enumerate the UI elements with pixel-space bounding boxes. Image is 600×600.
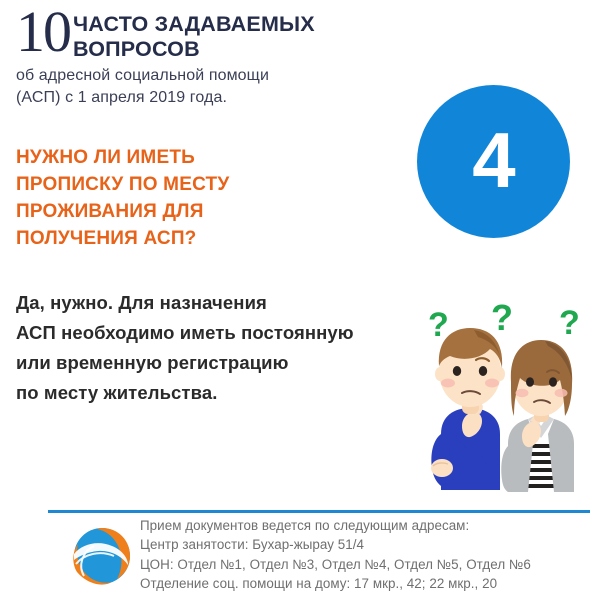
- man-ear-left: [435, 367, 445, 381]
- man-ear-right: [495, 367, 505, 381]
- svg-text:?: ?: [428, 306, 449, 344]
- header-block: 10 ЧАСТО ЗАДАВАЕМЫХ ВОПРОСОВ об адресной…: [16, 8, 376, 109]
- header-subtitle-line-2: (АСП) с 1 апреля 2019 года.: [16, 87, 376, 109]
- woman-eye-left: [526, 377, 534, 387]
- footer-addresses: Прием документов ведется по следующим ад…: [140, 516, 600, 593]
- question-text: НУЖНО ЛИ ИМЕТЬ ПРОПИСКУ ПО МЕСТУ ПРОЖИВА…: [16, 144, 376, 252]
- question-line-2: ПРОПИСКУ ПО МЕСТУ: [16, 171, 376, 198]
- header-subtitle-line-1: об адресной социальной помощи: [16, 65, 376, 87]
- thinking-woman-figure: [501, 340, 574, 492]
- footer-block: Прием документов ведется по следующим ад…: [64, 516, 594, 596]
- footer-line-4: Отделение соц. помощи на дому: 17 мкр., …: [140, 574, 600, 593]
- man-eye-right: [479, 366, 487, 376]
- question-number-badge: 4: [417, 85, 570, 238]
- answer-line-2: АСП необходимо иметь постоянную: [16, 318, 416, 348]
- woman-cheek-right: [555, 389, 568, 397]
- question-line-1: НУЖНО ЛИ ИМЕТЬ: [16, 144, 376, 171]
- organization-logo: [64, 520, 140, 592]
- man-cheek-left: [441, 379, 455, 388]
- answer-text: Да, нужно. Для назначения АСП необходимо…: [16, 288, 416, 408]
- svg-text:?: ?: [559, 304, 580, 342]
- question-mark-icon-right: ?: [559, 304, 580, 342]
- man-eye-left: [453, 366, 461, 376]
- header-title-lines: ЧАСТО ЗАДАВАЕМЫХ ВОПРОСОВ: [73, 8, 315, 62]
- header-title-row: 10 ЧАСТО ЗАДАВАЕМЫХ ВОПРОСОВ: [16, 8, 376, 62]
- footer-line-2: Центр занятости: Бухар-жырау 51/4: [140, 535, 600, 554]
- woman-eye-right: [549, 377, 557, 387]
- footer-line-1: Прием документов ведется по следующим ад…: [140, 516, 600, 535]
- header-title-line-1: ЧАСТО ЗАДАВАЕМЫХ: [73, 12, 315, 37]
- question-line-4: ПОЛУЧЕНИЯ АСП?: [16, 225, 376, 252]
- question-mark-icon-left: ?: [428, 306, 449, 344]
- thinking-people-illustration: ? ? ?: [412, 300, 600, 500]
- answer-line-3: или временную регистрацию: [16, 348, 416, 378]
- thinking-man-figure: [431, 328, 505, 490]
- question-mark-icon-middle: ?: [491, 300, 513, 338]
- footer-line-3: ЦОН: Отдел №1, Отдел №3, Отдел №4, Отдел…: [140, 555, 600, 574]
- question-number-value: 4: [472, 121, 514, 199]
- faq-count-number: 10: [16, 6, 70, 58]
- question-line-3: ПРОЖИВАНИЯ ДЛЯ: [16, 198, 376, 225]
- answer-line-1: Да, нужно. Для назначения: [16, 288, 416, 318]
- man-resting-hand: [431, 459, 453, 477]
- footer-divider: [48, 510, 590, 513]
- svg-text:?: ?: [491, 300, 513, 338]
- infographic-poster: 10 ЧАСТО ЗАДАВАЕМЫХ ВОПРОСОВ об адресной…: [0, 0, 600, 600]
- header-subtitle: об адресной социальной помощи (АСП) с 1 …: [16, 65, 376, 109]
- globe-logo-icon: [73, 528, 130, 585]
- man-cheek-right: [485, 379, 499, 388]
- answer-line-4: по месту жительства.: [16, 378, 416, 408]
- woman-cheek-left: [516, 389, 529, 397]
- header-title-line-2: ВОПРОСОВ: [73, 37, 315, 62]
